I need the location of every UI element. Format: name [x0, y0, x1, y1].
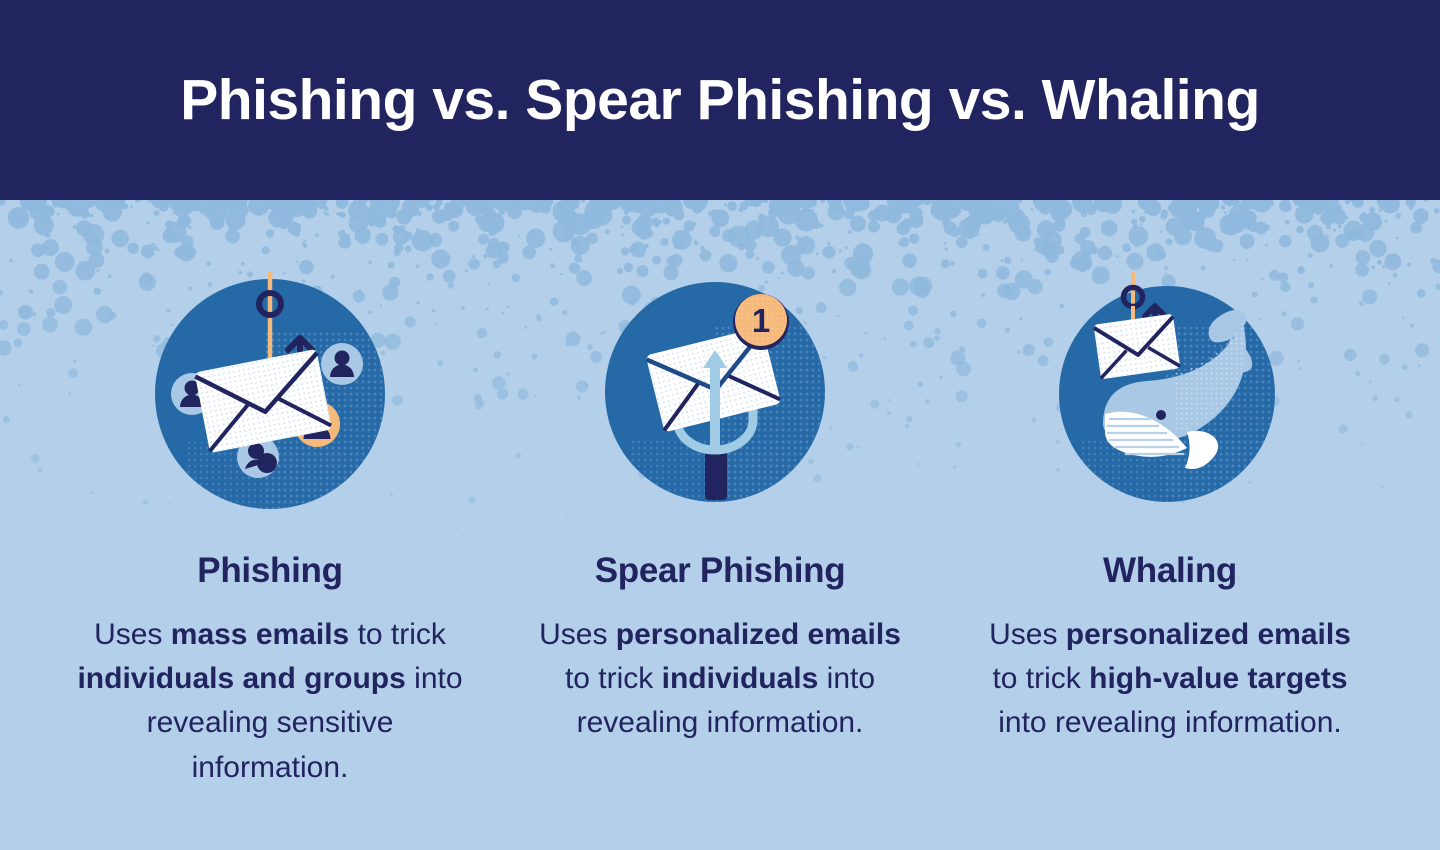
- column-heading-spear-phishing: Spear Phishing: [595, 552, 846, 591]
- column-whaling: Whaling Uses personalized emails to tric…: [950, 200, 1390, 746]
- trident-spearing-envelope-icon: 1: [595, 272, 845, 522]
- body-text: Uses: [989, 618, 1066, 651]
- whale-with-baited-envelope-icon: [1045, 272, 1295, 522]
- column-description-spear-phishing: Uses personalized emails to trick indivi…: [525, 613, 915, 746]
- emphasis-text: mass emails: [171, 618, 349, 651]
- emphasis-text: personalized emails: [1066, 618, 1351, 651]
- column-description-phishing: Uses mass emails to trick individuals an…: [75, 613, 465, 791]
- body-text: to trick: [565, 662, 662, 695]
- column-spear-phishing: 1 Spear Phishing Uses personalized email…: [500, 200, 940, 746]
- body-text: to trick: [992, 662, 1089, 695]
- column-description-whaling: Uses personalized emails to trick high-v…: [975, 613, 1365, 746]
- comparison-columns: Phishing Uses mass emails to trick indiv…: [0, 200, 1440, 850]
- badge-count: 1: [752, 302, 770, 339]
- column-phishing: Phishing Uses mass emails to trick indiv…: [50, 200, 490, 790]
- page-title: Phishing vs. Spear Phishing vs. Whaling: [180, 67, 1260, 133]
- page-header: Phishing vs. Spear Phishing vs. Whaling: [0, 0, 1440, 200]
- body-text: Uses: [539, 618, 616, 651]
- emphasis-text: individuals: [662, 662, 819, 695]
- column-heading-whaling: Whaling: [1103, 552, 1237, 591]
- column-heading-phishing: Phishing: [197, 552, 342, 591]
- body-text: Uses: [94, 618, 171, 651]
- emphasis-text: personalized emails: [616, 618, 901, 651]
- emphasis-text: individuals and groups: [77, 662, 405, 695]
- envelope-on-hook-with-crowd-icon: [145, 272, 395, 522]
- emphasis-text: high-value targets: [1089, 662, 1347, 695]
- body-text: into revealing information.: [998, 706, 1342, 739]
- body-text: to trick: [349, 618, 446, 651]
